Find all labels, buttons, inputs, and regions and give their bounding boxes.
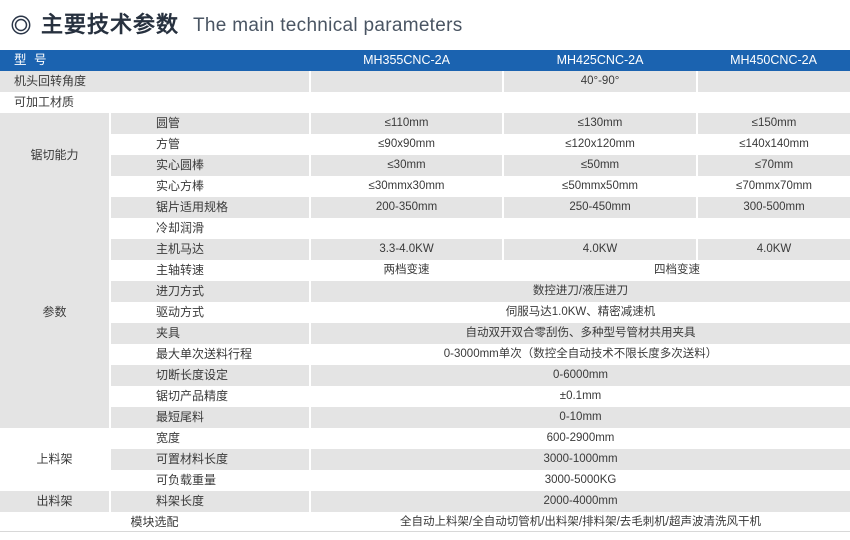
value-cell: 0-3000mm单次（数控全自动技术不限长度多次送料） <box>310 344 850 365</box>
bottom-divider <box>0 531 850 532</box>
column-header-mh425: MH425CNC-2A <box>503 50 697 71</box>
table-row: 上料架宽度600-2900mm <box>0 428 850 449</box>
column-header-mh355: MH355CNC-2A <box>310 50 503 71</box>
value-cell <box>503 92 697 113</box>
value-cell <box>310 71 503 92</box>
group-label-锯切能力: 锯切能力 <box>0 113 110 197</box>
value-cell: ≤150mm <box>697 113 850 134</box>
table-body: 机头回转角度40°-90°可加工材质锯切能力圆管≤110mm≤130mm≤150… <box>0 71 850 533</box>
table-row: 机头回转角度40°-90° <box>0 71 850 92</box>
value-cell: 伺服马达1.0KW、精密减速机 <box>310 302 850 323</box>
table-row: 实心方棒≤30mmx30mm≤50mmx50mm≤70mmx70mm <box>0 176 850 197</box>
table-header: 型 号 MH355CNC-2A MH425CNC-2A MH450CNC-2A <box>0 50 850 71</box>
row-label-实心圆棒: 实心圆棒 <box>110 155 310 176</box>
row-label-机头回转角度: 机头回转角度 <box>0 71 310 92</box>
row-label-锯片适用规格: 锯片适用规格 <box>110 197 310 218</box>
value-cell: 0-6000mm <box>310 365 850 386</box>
table-row: 模块选配全自动上料架/全自动切管机/出料架/排料架/去毛刺机/超声波清洗风干机 <box>0 512 850 533</box>
value-cell <box>697 71 850 92</box>
row-label-圆管: 圆管 <box>110 113 310 134</box>
table-row: 主轴转速两档变速四档变速 <box>0 260 850 281</box>
table-row: 最大单次送料行程0-3000mm单次（数控全自动技术不限长度多次送料） <box>0 344 850 365</box>
value-cell: 自动双开双合零刮伤、多种型号管材共用夹具 <box>310 323 850 344</box>
value-cell: ≤70mm <box>697 155 850 176</box>
table-row: 可负载重量3000-5000KG <box>0 470 850 491</box>
value-cell: 3000-5000KG <box>310 470 850 491</box>
value-cell: ≤70mmx70mm <box>697 176 850 197</box>
value-cell: ≤130mm <box>503 113 697 134</box>
value-cell: ≤90x90mm <box>310 134 503 155</box>
row-label-主轴转速: 主轴转速 <box>110 260 310 281</box>
value-cell <box>503 218 697 239</box>
value-cell: 3.3-4.0KW <box>310 239 503 260</box>
table-row: 切断长度设定0-6000mm <box>0 365 850 386</box>
value-cell: ≤120x120mm <box>503 134 697 155</box>
page-header: 主要技术参数 The main technical parameters <box>0 0 850 50</box>
value-cell: 4.0KW <box>697 239 850 260</box>
row-label-可加工材质: 可加工材质 <box>0 92 310 113</box>
value-cell: 3000-1000mm <box>310 449 850 470</box>
value-cell: ≤30mm <box>310 155 503 176</box>
row-label-最大单次送料行程: 最大单次送料行程 <box>110 344 310 365</box>
table-row: 驱动方式伺服马达1.0KW、精密减速机 <box>0 302 850 323</box>
table-header-row: 型 号 MH355CNC-2A MH425CNC-2A MH450CNC-2A <box>0 50 850 71</box>
value-cell <box>697 218 850 239</box>
row-label-冷却润滑: 冷却润滑 <box>110 218 310 239</box>
row-label-可置材料长度: 可置材料长度 <box>110 449 310 470</box>
group-label-模块选配: 模块选配 <box>0 512 310 533</box>
spec-table: 型 号 MH355CNC-2A MH425CNC-2A MH450CNC-2A … <box>0 50 850 533</box>
row-label-宽度: 宽度 <box>110 428 310 449</box>
value-cell <box>697 92 850 113</box>
double-ring-icon <box>10 14 32 36</box>
group-label-上料架: 上料架 <box>0 428 110 491</box>
value-cell <box>310 92 503 113</box>
table-row: 出料架料架长度2000-4000mm <box>0 491 850 512</box>
value-cell: 200-350mm <box>310 197 503 218</box>
row-label-进刀方式: 进刀方式 <box>110 281 310 302</box>
column-header-mh450: MH450CNC-2A <box>697 50 850 71</box>
value-cell: 600-2900mm <box>310 428 850 449</box>
table-row: 可置材料长度3000-1000mm <box>0 449 850 470</box>
table-row: 可加工材质 <box>0 92 850 113</box>
page-root: 主要技术参数 The main technical parameters 型 号… <box>0 0 850 540</box>
row-label-料架长度: 料架长度 <box>110 491 310 512</box>
value-cell: ≤30mmx30mm <box>310 176 503 197</box>
value-cell: ≤50mmx50mm <box>503 176 697 197</box>
value-cell: ≤50mm <box>503 155 697 176</box>
table-row: 实心圆棒≤30mm≤50mm≤70mm <box>0 155 850 176</box>
table-row: 冷却润滑 <box>0 218 850 239</box>
value-cell: ±0.1mm <box>310 386 850 407</box>
row-label-夹具: 夹具 <box>110 323 310 344</box>
row-label-可负载重量: 可负载重量 <box>110 470 310 491</box>
group-label-出料架: 出料架 <box>0 491 110 512</box>
column-header-model: 型 号 <box>0 50 310 71</box>
row-label-驱动方式: 驱动方式 <box>110 302 310 323</box>
table-row: 锯切产品精度±0.1mm <box>0 386 850 407</box>
row-label-主机马达: 主机马达 <box>110 239 310 260</box>
value-cell: 全自动上料架/全自动切管机/出料架/排料架/去毛刺机/超声波清洗风干机 <box>310 512 850 533</box>
row-label-实心方棒: 实心方棒 <box>110 176 310 197</box>
value-cell: 四档变速 <box>503 260 850 281</box>
table-row: 锯切能力圆管≤110mm≤130mm≤150mm <box>0 113 850 134</box>
value-cell: 2000-4000mm <box>310 491 850 512</box>
value-cell: 4.0KW <box>503 239 697 260</box>
value-cell: 两档变速 <box>310 260 503 281</box>
value-cell: 数控进刀/液压进刀 <box>310 281 850 302</box>
row-label-方管: 方管 <box>110 134 310 155</box>
value-cell: 250-450mm <box>503 197 697 218</box>
group-label-参数: 参数 <box>0 197 110 428</box>
table-row: 进刀方式数控进刀/液压进刀 <box>0 281 850 302</box>
table-row: 方管≤90x90mm≤120x120mm≤140x140mm <box>0 134 850 155</box>
value-cell <box>310 218 503 239</box>
table-row: 夹具自动双开双合零刮伤、多种型号管材共用夹具 <box>0 323 850 344</box>
value-cell: 0-10mm <box>310 407 850 428</box>
value-cell: 40°-90° <box>503 71 697 92</box>
page-title-cn: 主要技术参数 <box>41 14 179 36</box>
row-label-锯切产品精度: 锯切产品精度 <box>110 386 310 407</box>
table-row: 参数锯片适用规格200-350mm250-450mm300-500mm <box>0 197 850 218</box>
row-label-最短尾料: 最短尾料 <box>110 407 310 428</box>
value-cell: ≤140x140mm <box>697 134 850 155</box>
value-cell: ≤110mm <box>310 113 503 134</box>
table-row: 主机马达3.3-4.0KW4.0KW4.0KW <box>0 239 850 260</box>
table-row: 最短尾料0-10mm <box>0 407 850 428</box>
page-title-en: The main technical parameters <box>193 16 463 35</box>
row-label-切断长度设定: 切断长度设定 <box>110 365 310 386</box>
value-cell: 300-500mm <box>697 197 850 218</box>
